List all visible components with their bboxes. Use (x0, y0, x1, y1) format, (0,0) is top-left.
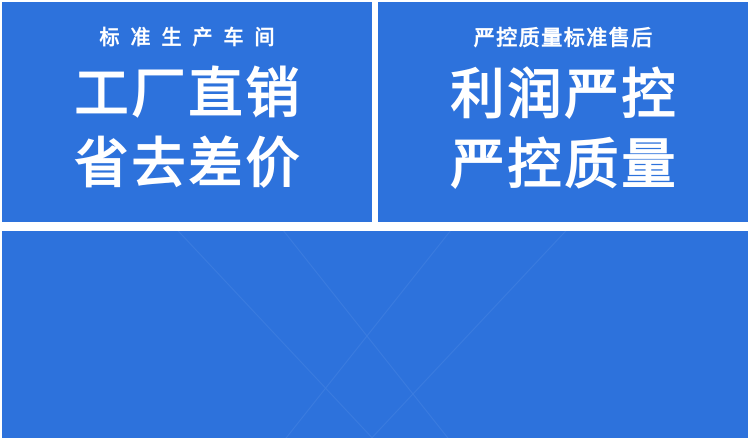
right-panel-eyebrow: 严控质量标准售后 (472, 28, 654, 49)
left-panel-headline-line1: 工厂直销 (72, 67, 303, 121)
panel-quality-control: 严控质量标准售后 利润严控 严控质量 (378, 2, 748, 222)
promo-banner: 标准生产车间 工厂直销 省去差价 严控质量标准售后 利润严控 严控质量 细节与优… (0, 0, 750, 440)
panel-details-advantages: 细节与优势 不怕货比，就怕不识货 (2, 231, 748, 438)
panel-factory-direct: 标准生产车间 工厂直销 省去差价 (2, 2, 372, 222)
diagonal-watermark-pattern (2, 231, 748, 438)
right-panel-headline-line1: 利润严控 (448, 68, 679, 122)
top-panels-row: 标准生产车间 工厂直销 省去差价 严控质量标准售后 利润严控 严控质量 (2, 2, 748, 222)
right-panel-headline-line2: 严控质量 (448, 138, 679, 192)
left-panel-eyebrow: 标准生产车间 (89, 28, 286, 48)
left-panel-headline-line2: 省去差价 (72, 137, 303, 191)
